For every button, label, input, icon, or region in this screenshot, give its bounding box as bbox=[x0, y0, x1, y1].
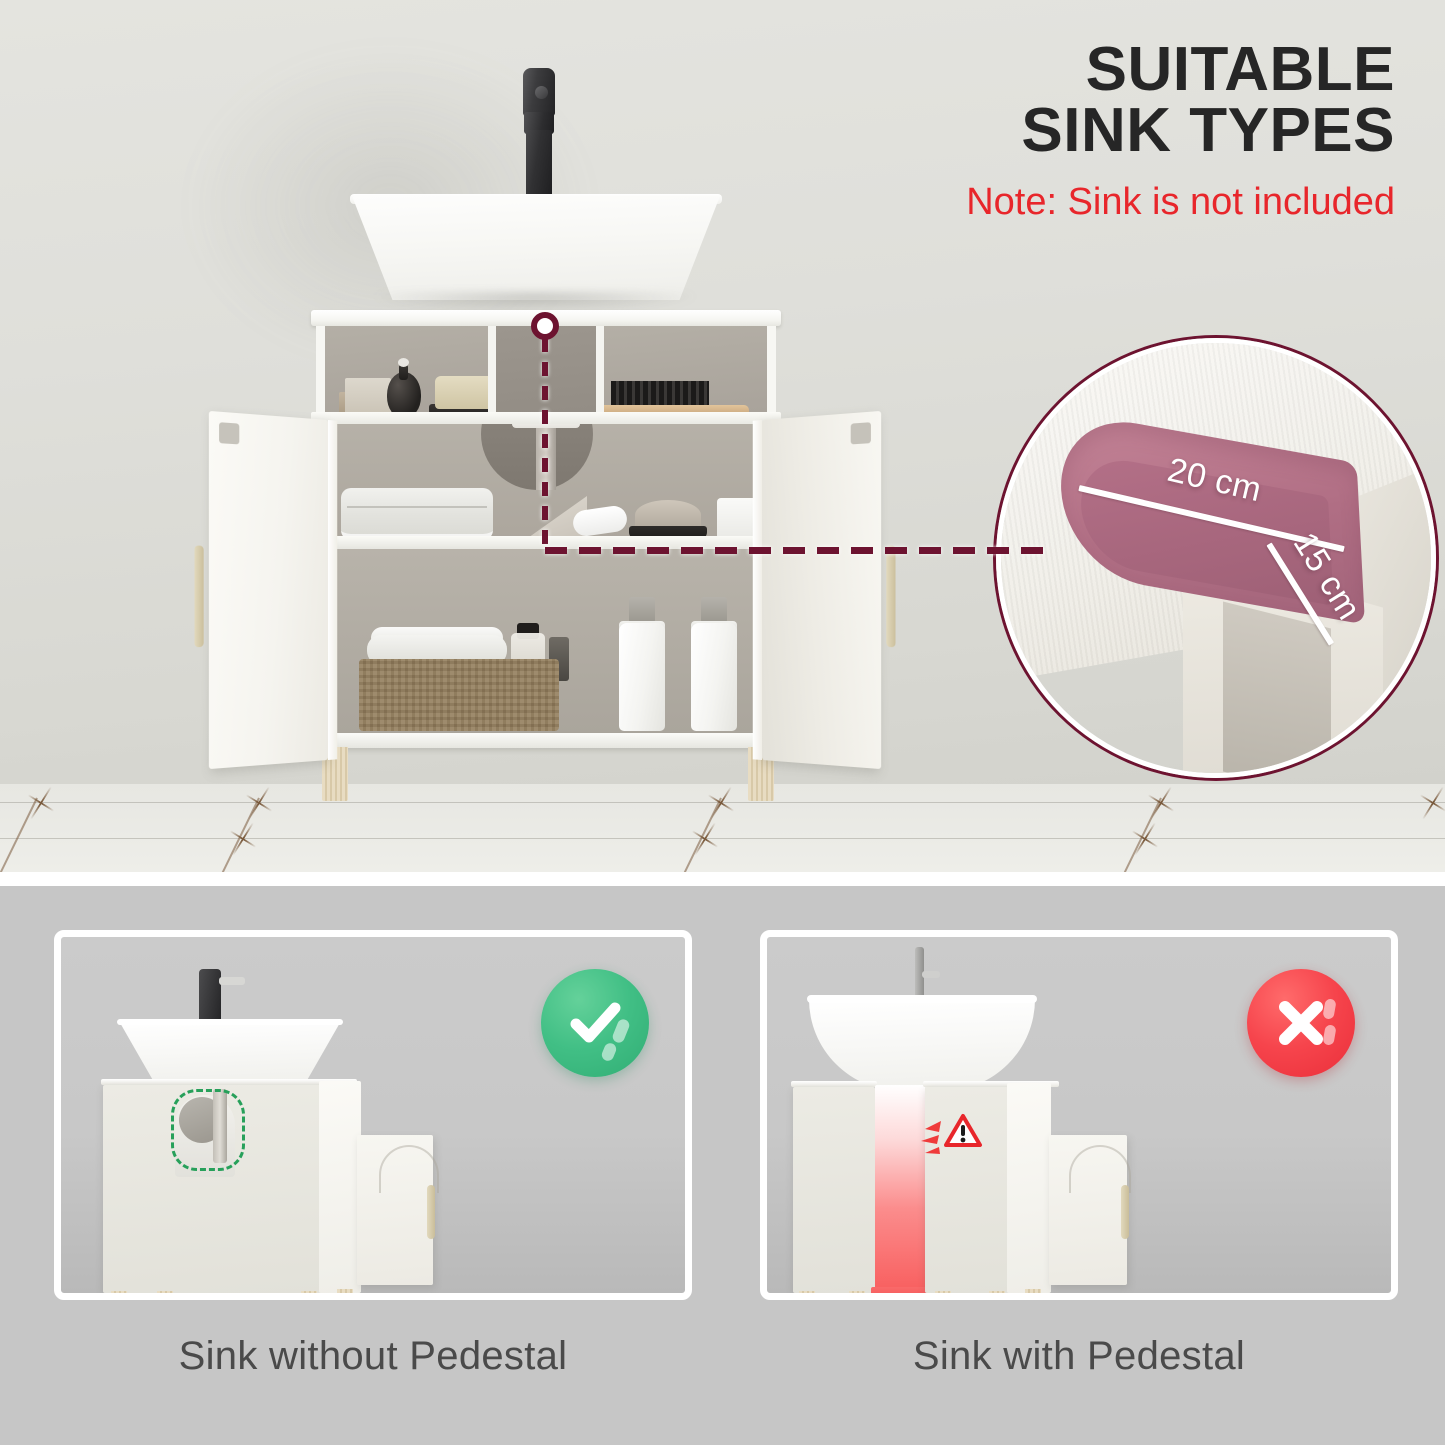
check-badge-icon bbox=[541, 969, 649, 1077]
sponge-prop bbox=[435, 376, 488, 409]
callout-line-vertical bbox=[542, 338, 548, 550]
woven-basket bbox=[359, 659, 559, 731]
mini-leg bbox=[1025, 1289, 1041, 1300]
headline-note: Note: Sink is not included bbox=[966, 184, 1395, 221]
mini-leg bbox=[799, 1291, 815, 1300]
headline-line-2: SINK TYPES bbox=[966, 101, 1395, 162]
mini-door-handle-right[interactable] bbox=[1121, 1185, 1129, 1239]
upper-cell-left bbox=[325, 326, 488, 420]
mini-sink-rim-left bbox=[117, 1019, 343, 1025]
mini-leg bbox=[111, 1291, 127, 1300]
door-edge bbox=[328, 420, 337, 760]
mini-faucet-spout-right bbox=[922, 971, 940, 978]
pedestal-foot bbox=[871, 1287, 929, 1300]
pedestal-column bbox=[875, 1085, 925, 1297]
detergent-bottle bbox=[691, 623, 737, 731]
cabinet-lower-section bbox=[316, 549, 776, 735]
comparison-section: Sink without Pedestal Sink with Pedestal bbox=[0, 886, 1445, 1445]
floor bbox=[0, 784, 1445, 872]
hinge-icon bbox=[219, 422, 239, 444]
brush-bristles bbox=[611, 381, 709, 407]
shelf-divider bbox=[488, 326, 496, 420]
mini-pedestal-sink-bowl bbox=[809, 999, 1035, 1091]
mini-vessel-sink-left bbox=[119, 1021, 341, 1083]
headline-block: SUITABLE SINK TYPES Note: Sink is not in… bbox=[966, 40, 1395, 221]
impact-burst-icon bbox=[919, 1119, 949, 1155]
mini-door-handle-left[interactable] bbox=[427, 1185, 435, 1239]
shelf-divider bbox=[596, 326, 604, 420]
callout-line-horizontal bbox=[545, 547, 1055, 554]
detergent-bottle bbox=[619, 623, 665, 731]
cross-badge-icon bbox=[1247, 969, 1355, 1077]
fit-indicator-dashed-outline bbox=[171, 1089, 245, 1171]
headline-line-1: SUITABLE bbox=[966, 40, 1395, 101]
mini-leg bbox=[849, 1291, 865, 1300]
panel-sink-with-pedestal bbox=[760, 930, 1398, 1300]
mini-leg bbox=[337, 1289, 353, 1300]
magnifier-circle: 20 cm 15 cm bbox=[996, 338, 1436, 778]
door-handle-left[interactable] bbox=[194, 545, 203, 647]
callout-marker-icon bbox=[531, 312, 559, 340]
mini-cabinet-side-left bbox=[319, 1081, 361, 1293]
cabinet-door-left[interactable] bbox=[209, 411, 328, 769]
door-handle-right[interactable] bbox=[886, 545, 895, 647]
caption-sink-without-pedestal: Sink without Pedestal bbox=[54, 1334, 692, 1379]
mini-cabinet-side-right bbox=[1007, 1083, 1051, 1293]
caption-sink-with-pedestal: Sink with Pedestal bbox=[760, 1334, 1398, 1379]
section-divider bbox=[0, 872, 1445, 886]
warning-triangle-icon bbox=[943, 1113, 983, 1149]
cabinet-door-right[interactable] bbox=[762, 411, 881, 769]
hero-scene: SUITABLE SINK TYPES Note: Sink is not in… bbox=[0, 0, 1445, 872]
bottle-neck bbox=[629, 597, 655, 623]
hinge-icon bbox=[851, 422, 871, 444]
bottle-neck bbox=[701, 597, 727, 623]
door-edge bbox=[753, 420, 762, 760]
mini-sink-rim-right bbox=[807, 995, 1037, 1003]
mini-faucet-spout bbox=[219, 977, 245, 985]
cabinet-base-panel bbox=[309, 733, 783, 748]
vase-cap bbox=[398, 358, 409, 367]
mini-leg bbox=[935, 1291, 951, 1300]
magnified-interior bbox=[1223, 602, 1331, 778]
mini-leg bbox=[989, 1291, 1005, 1300]
mini-cabinet-body-left-half bbox=[793, 1087, 875, 1293]
mini-leg bbox=[157, 1291, 173, 1300]
vessel-sink bbox=[352, 196, 720, 300]
infographic-root: SUITABLE SINK TYPES Note: Sink is not in… bbox=[0, 0, 1445, 1445]
faucet bbox=[519, 68, 559, 198]
panel-sink-without-pedestal bbox=[54, 930, 692, 1300]
upper-cell-right bbox=[604, 326, 767, 420]
mini-leg bbox=[301, 1291, 317, 1300]
folded-towels bbox=[341, 488, 493, 540]
